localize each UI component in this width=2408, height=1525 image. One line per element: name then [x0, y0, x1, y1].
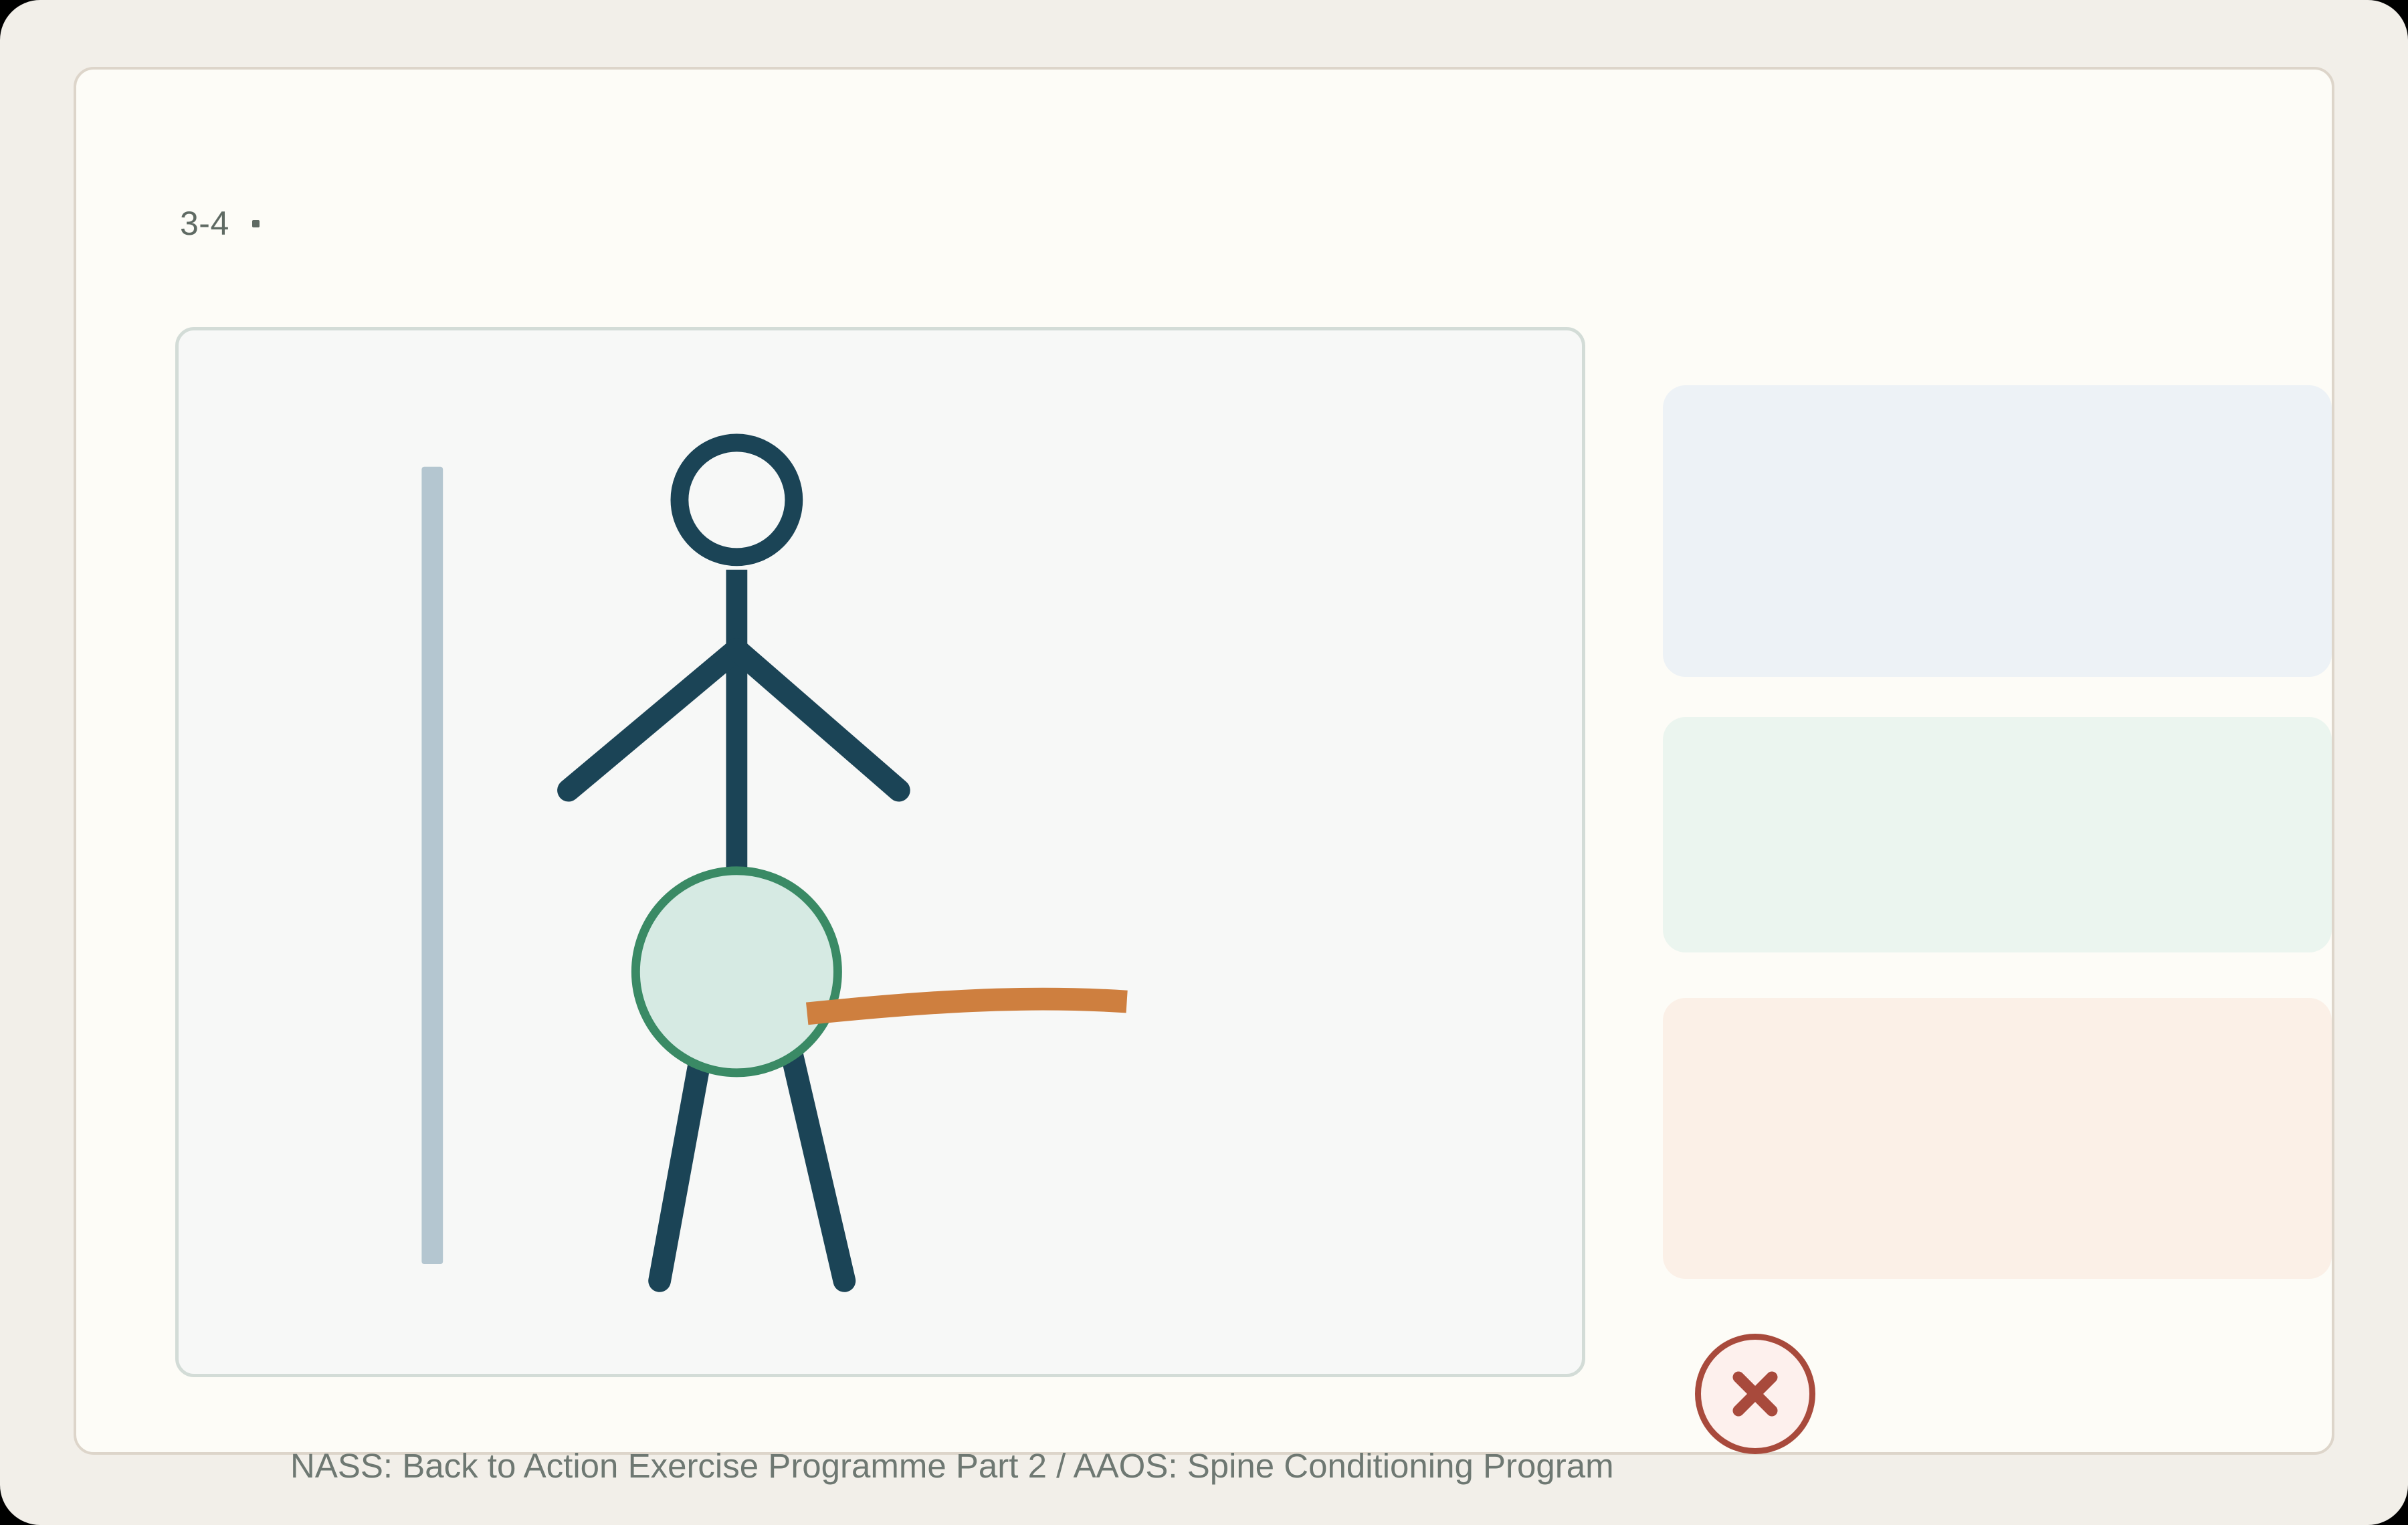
stability-ball-shape: [635, 871, 837, 1073]
source-caption: NASS: Back to Action Exercise Programme …: [290, 1449, 1614, 1483]
separator-dot-icon: [252, 220, 260, 227]
step-range-label: 3-4: [180, 207, 229, 240]
close-button[interactable]: [1695, 1334, 1815, 1454]
info-panel-tips[interactable]: [1663, 717, 2332, 952]
right-arm-shape: [736, 649, 898, 791]
info-panel-cautions[interactable]: [1663, 998, 2332, 1279]
illustration-panel: [175, 327, 1585, 1377]
wall-bar-shape: [421, 467, 443, 1264]
card-header: 3-4: [180, 207, 282, 240]
exercise-figure-illustration: [179, 330, 1582, 1374]
page-root: 3-4: [0, 0, 2408, 1525]
info-panel-column: [1663, 385, 2332, 1279]
info-panel-instructions[interactable]: [1663, 385, 2332, 677]
head-shape: [680, 443, 794, 557]
x-icon: [1722, 1361, 1788, 1427]
left-arm-shape: [569, 649, 736, 791]
resistance-band-shape: [807, 999, 1127, 1014]
exercise-card: 3-4: [74, 67, 2334, 1455]
